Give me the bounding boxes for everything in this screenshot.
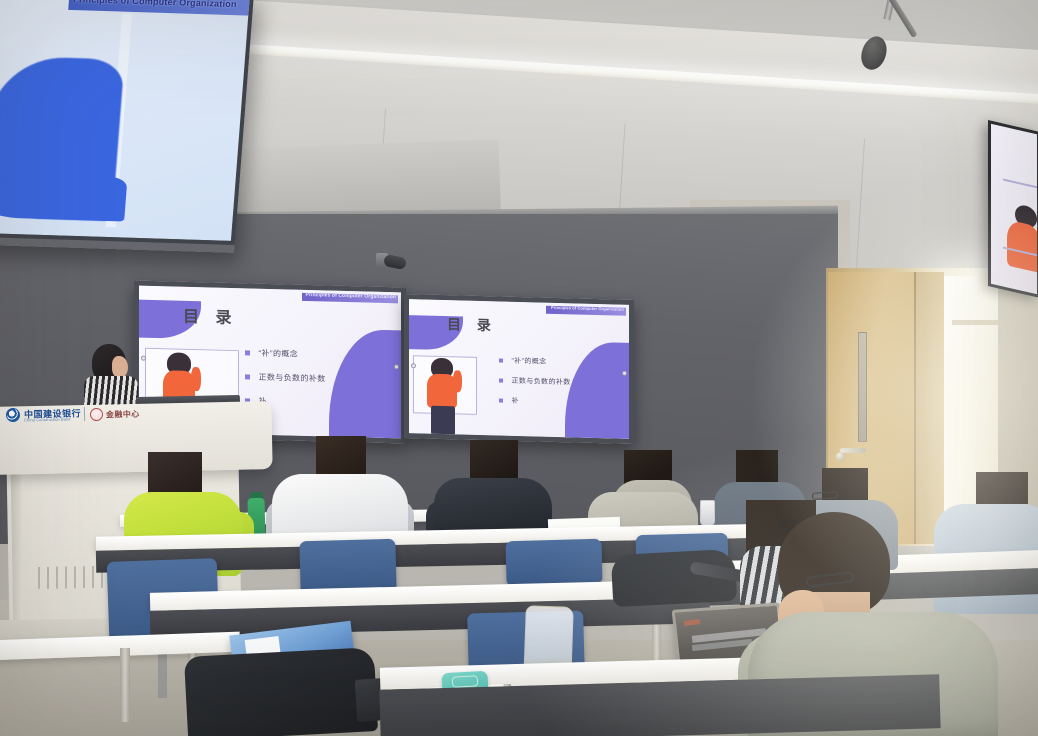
desk-leg: [120, 648, 130, 722]
dark-duffel-bag[interactable]: [184, 647, 378, 736]
bullet-square-icon: [499, 358, 503, 362]
door-lock-icon[interactable]: [836, 452, 845, 461]
slide-bullet-item: 正数与负数的补数: [245, 368, 326, 388]
slide-figure-arm: [191, 367, 201, 391]
side-monitor-figure-body: [1007, 219, 1038, 273]
door-vision-panel: [858, 332, 867, 442]
main-projection-surface: Principles of Computer Organization 的概念 …: [0, 0, 254, 245]
slide-bullet-text: 正数与负数的补数: [258, 372, 325, 385]
display-indicator-dot: [622, 371, 627, 376]
display-indicator-dot: [411, 363, 416, 368]
slide-heading: 目 录: [183, 303, 237, 328]
slide-graphic-wave-base: [0, 173, 128, 222]
bank-sub-label: 金融中心: [106, 409, 140, 421]
chair[interactable]: [505, 539, 602, 585]
wet-wipes-lid[interactable]: [452, 675, 479, 687]
slide-bullet-text: 正数与负数的补数: [511, 376, 570, 388]
slide-heading: 目 录: [447, 314, 497, 335]
slide-figure-legs: [431, 406, 455, 439]
door-open-gap: [916, 272, 944, 544]
bullet-square-icon: [245, 375, 250, 380]
display-right: Principles of Computer Organization 目 录 …: [404, 294, 634, 444]
display-indicator-dot: [141, 356, 146, 361]
display-indicator-dot: [394, 364, 399, 369]
bullet-square-icon: [245, 351, 250, 356]
slide-figure-arm: [453, 370, 462, 392]
bullet-square-icon: [499, 398, 503, 402]
clear-cup[interactable]: [700, 500, 715, 526]
door-handle[interactable]: [840, 448, 866, 453]
slide-bullet-item: 正数与负数的补数: [499, 371, 571, 391]
slide-bullet-item: “补”的概念: [499, 351, 547, 370]
slide-bullet-item: “补”的概念: [245, 344, 298, 363]
ceiling-tile-seam: [855, 139, 865, 289]
window-mullion: [952, 320, 998, 325]
main-projection-screen: Principles of Computer Organization 的概念 …: [0, 0, 254, 253]
classroom-photo: Principles of Computer Organization 的概念 …: [0, 0, 1038, 736]
bullet-square-icon: [499, 378, 503, 382]
presenter-face: [112, 356, 128, 378]
slide-bullet-text: “补”的概念: [511, 356, 546, 367]
chair[interactable]: [299, 539, 396, 593]
side-monitor: [988, 120, 1038, 298]
bank-name-en: China Construction Bank: [24, 417, 71, 423]
slide-bullet-item: 补: [499, 391, 519, 410]
slide-bullet-text: “补”的概念: [258, 348, 298, 360]
slide-bullet-text: 补: [511, 396, 518, 406]
